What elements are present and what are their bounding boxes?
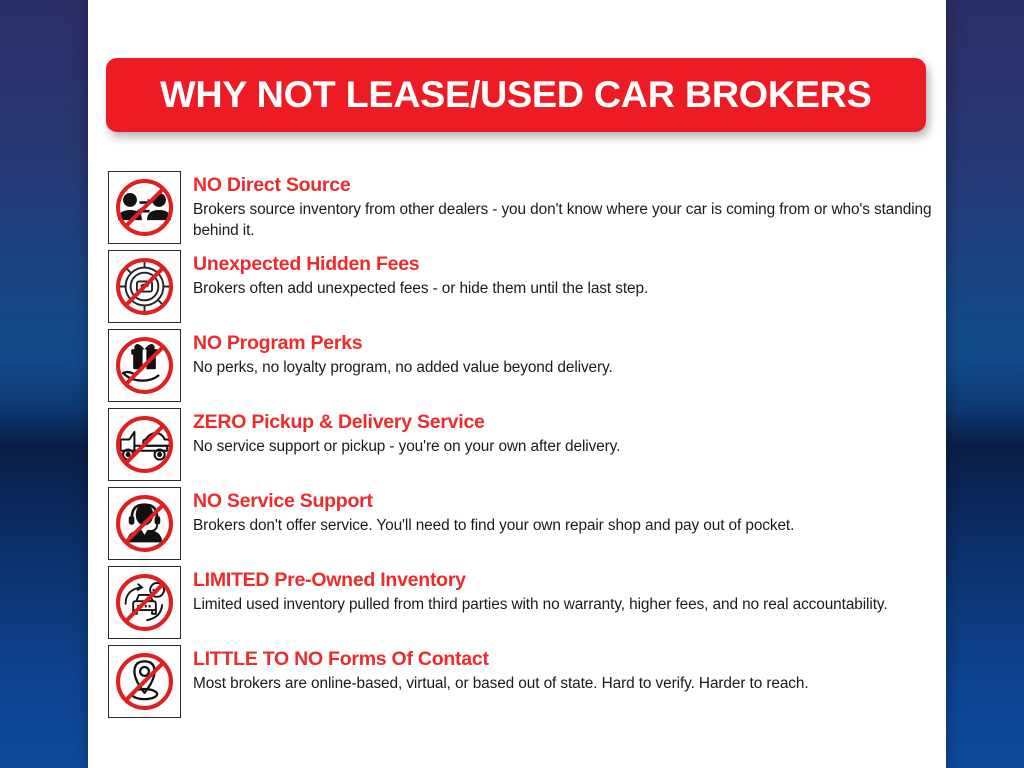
no-tow-truck-delivery-icon: [108, 408, 181, 481]
list-item-title: NO Service Support: [193, 491, 938, 512]
list-item-text: LIMITED Pre-Owned Inventory Limited used…: [181, 565, 938, 615]
list-item-description: Brokers source inventory from other deal…: [193, 199, 938, 242]
list-item-title: LITTLE TO NO Forms Of Contact: [193, 649, 938, 670]
list-item-description: Brokers don't offer service. You'll need…: [193, 515, 938, 536]
list-item-description: Most brokers are online-based, virtual, …: [193, 673, 938, 694]
list-item-description: Brokers often add unexpected fees - or h…: [193, 278, 938, 299]
list-item: LITTLE TO NO Forms Of Contact Most broke…: [108, 644, 938, 718]
list-item-text: NO Service Support Brokers don't offer s…: [181, 486, 938, 536]
list-item: NO Program Perks No perks, no loyalty pr…: [108, 328, 938, 402]
list-item: Unexpected Hidden Fees Brokers often add…: [108, 249, 938, 323]
list-item: NO Service Support Brokers don't offer s…: [108, 486, 938, 560]
no-headset-support-icon: [108, 487, 181, 560]
list-item-text: NO Direct Source Brokers source inventor…: [181, 170, 938, 242]
list-item: LIMITED Pre-Owned Inventory Limited used…: [108, 565, 938, 639]
list-item-title: ZERO Pickup & Delivery Service: [193, 412, 938, 433]
list-item-description: No service support or pickup - you're on…: [193, 436, 938, 457]
list-item-title: Unexpected Hidden Fees: [193, 254, 938, 275]
list-item-text: NO Program Perks No perks, no loyalty pr…: [181, 328, 938, 378]
no-certified-car-inventory-icon: [108, 566, 181, 639]
list-item-text: ZERO Pickup & Delivery Service No servic…: [181, 407, 938, 457]
list-item-title: LIMITED Pre-Owned Inventory: [193, 570, 938, 591]
list-item-description: Limited used inventory pulled from third…: [193, 594, 938, 615]
list-item-title: NO Program Perks: [193, 333, 938, 354]
no-location-pin-icon: [108, 645, 181, 718]
list-item-text: Unexpected Hidden Fees Brokers often add…: [181, 249, 938, 299]
no-gift-perks-icon: [108, 329, 181, 402]
list-item-description: No perks, no loyalty program, no added v…: [193, 357, 938, 378]
no-direct-source-icon: [108, 171, 181, 244]
list-item: ZERO Pickup & Delivery Service No servic…: [108, 407, 938, 481]
page-title: WHY NOT LEASE/USED CAR BROKERS: [160, 74, 871, 116]
list-item: NO Direct Source Brokers source inventor…: [108, 170, 938, 244]
no-hidden-fees-icon: [108, 250, 181, 323]
title-banner: WHY NOT LEASE/USED CAR BROKERS: [106, 58, 926, 132]
poster-card: WHY NOT LEASE/USED CAR BROKERS: [88, 0, 946, 768]
drawbacks-list: NO Direct Source Brokers source inventor…: [108, 170, 938, 723]
list-item-title: NO Direct Source: [193, 175, 938, 196]
list-item-text: LITTLE TO NO Forms Of Contact Most broke…: [181, 644, 938, 694]
